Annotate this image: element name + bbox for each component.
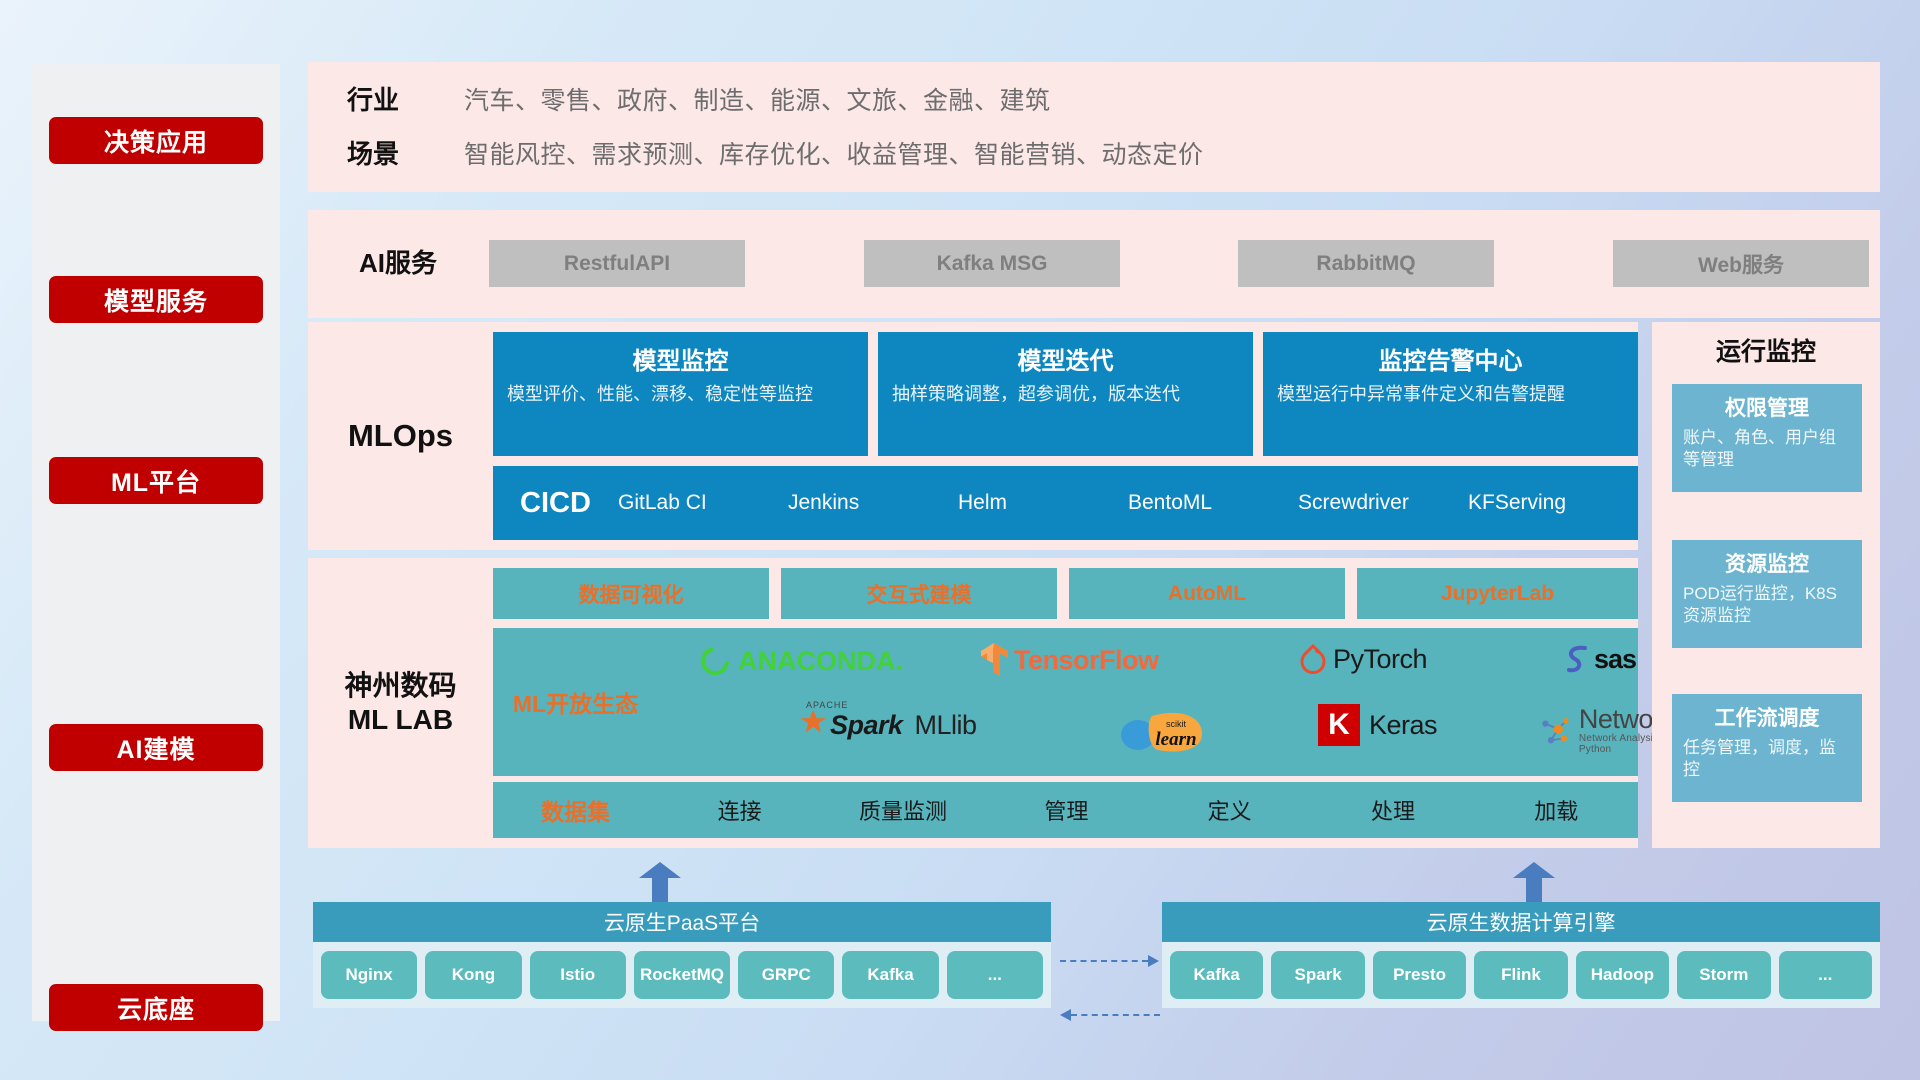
cicd-title: CICD	[493, 487, 618, 520]
compute-chip-spark[interactable]: Spark	[1271, 951, 1364, 999]
compute-chip-presto[interactable]: Presto	[1373, 951, 1466, 999]
paas-chip-istio[interactable]: Istio	[530, 951, 626, 999]
compute-chip-storm[interactable]: Storm	[1677, 951, 1770, 999]
stage-pill-decision[interactable]: 决策应用	[49, 117, 263, 164]
keras-wordmark: Keras	[1369, 710, 1437, 741]
card-desc: 抽样策略调整，超参调优，版本迭代	[892, 383, 1239, 407]
lab-tab-data-visualization[interactable]: 数据可视化	[493, 568, 769, 619]
compute-chip-kafka[interactable]: Kafka	[1170, 951, 1263, 999]
mlops-card-model-monitoring[interactable]: 模型监控 模型评价、性能、漂移、稳定性等监控	[493, 332, 868, 456]
anaconda-mark-icon	[698, 644, 732, 678]
scenario-label: 场景	[308, 134, 438, 171]
ml-ecosystem-title: ML开放生态	[493, 685, 658, 719]
scikit-tag-text: scikit	[1166, 719, 1186, 729]
ml-lab-label-line1: 神州数码	[344, 669, 456, 703]
cicd-item-jenkins[interactable]: Jenkins	[788, 491, 958, 515]
keras-mark-icon: K	[1318, 704, 1360, 746]
stage-pill-model-service[interactable]: 模型服务	[49, 276, 263, 323]
service-chip-web-service[interactable]: Web服务	[1613, 240, 1869, 287]
spark-apache-tag: APACHE	[806, 700, 848, 710]
paas-chip-grpc[interactable]: GRPC	[738, 951, 834, 999]
dataset-bar: 数据集 连接 质量监测 管理 定义 处理 加载	[493, 782, 1638, 838]
monitor-card-permission[interactable]: 权限管理 账户、角色、用户组等管理	[1672, 384, 1862, 492]
keras-logo: K Keras	[1318, 704, 1437, 746]
monitor-card-resource[interactable]: 资源监控 POD运行监控，K8S资源监控	[1672, 540, 1862, 648]
card-desc: POD运行监控，K8S资源监控	[1683, 583, 1851, 627]
compute-chip-hadoop[interactable]: Hadoop	[1576, 951, 1669, 999]
paas-to-compute-arrow-icon	[1060, 960, 1160, 962]
paas-chip-nginx[interactable]: Nginx	[321, 951, 417, 999]
cicd-item-helm[interactable]: Helm	[958, 491, 1128, 515]
lab-tab-automl[interactable]: AutoML	[1069, 568, 1345, 619]
mlops-card-model-iteration[interactable]: 模型迭代 抽样策略调整，超参调优，版本迭代	[878, 332, 1253, 456]
sas-wordmark: sas	[1594, 644, 1636, 675]
card-title: 权限管理	[1683, 392, 1851, 422]
stage-column: 决策应用 模型服务 ML平台 AI建模 云底座	[32, 64, 280, 1021]
mlops-panel: MLOps 模型监控 模型评价、性能、漂移、稳定性等监控 模型迭代 抽样策略调整…	[308, 322, 1638, 550]
cloud-paas-group: 云原生PaaS平台 Nginx Kong Istio RocketMQ GRPC…	[313, 902, 1051, 1008]
service-chip-kafka-msg[interactable]: Kafka MSG	[864, 240, 1120, 287]
dataset-item-process[interactable]: 处理	[1311, 794, 1474, 826]
pytorch-logo: PyTorch	[1298, 642, 1427, 676]
card-desc: 任务管理，调度，监控	[1683, 737, 1851, 781]
scikit-learn-logo: scikit learn	[1118, 708, 1214, 758]
cicd-item-screwdriver[interactable]: Screwdriver	[1298, 491, 1468, 515]
paas-chip-kong[interactable]: Kong	[425, 951, 521, 999]
lab-tab-jupyterlab[interactable]: JupyterLab	[1357, 568, 1638, 619]
scenario-row: 场景 智能风控、需求预测、库存优化、收益管理、智能营销、动态定价	[308, 134, 1204, 171]
card-title: 资源监控	[1683, 548, 1851, 578]
pytorch-mark-icon	[1298, 642, 1328, 676]
ml-lab-panel: 神州数码 ML LAB 数据可视化 交互式建模 AutoML JupyterLa…	[308, 558, 1638, 848]
card-title: 模型监控	[507, 341, 854, 376]
networkx-mark-icon	[1538, 711, 1575, 751]
compute-to-paas-arrow-icon	[1060, 1014, 1160, 1016]
mlops-label: MLOps	[308, 322, 493, 550]
spark-star-icon	[798, 708, 834, 742]
dataset-item-define[interactable]: 定义	[1148, 794, 1311, 826]
card-desc: 模型运行中异常事件定义和告警提醒	[1277, 383, 1624, 407]
sas-logo: sas	[1563, 643, 1636, 675]
tensorflow-logo: TensorFlow	[978, 642, 1159, 678]
dataset-title: 数据集	[493, 793, 658, 827]
card-title: 工作流调度	[1683, 702, 1851, 732]
ml-lab-label: 神州数码 ML LAB	[308, 558, 493, 848]
stage-pill-ml-platform[interactable]: ML平台	[49, 457, 263, 504]
paas-chip-kafka[interactable]: Kafka	[842, 951, 938, 999]
dataset-item-manage[interactable]: 管理	[985, 794, 1148, 826]
cicd-item-gitlab-ci[interactable]: GitLab CI	[618, 491, 788, 515]
stage-pill-cloud-base[interactable]: 云底座	[49, 984, 263, 1031]
anaconda-wordmark: ANACONDA.	[738, 646, 903, 677]
cloud-compute-chips: Kafka Spark Presto Flink Hadoop Storm ..…	[1162, 942, 1880, 1008]
card-desc: 账户、角色、用户组等管理	[1683, 427, 1851, 471]
compute-up-arrow-icon	[1513, 862, 1555, 902]
runtime-monitoring-panel: 运行监控 权限管理 账户、角色、用户组等管理 资源监控 POD运行监控，K8S资…	[1652, 322, 1880, 848]
paas-chip-more[interactable]: ...	[947, 951, 1043, 999]
service-chip-rabbitmq[interactable]: RabbitMQ	[1238, 240, 1494, 287]
card-desc: 模型评价、性能、漂移、稳定性等监控	[507, 383, 854, 407]
tensorflow-wordmark: TensorFlow	[1014, 645, 1159, 676]
industry-label: 行业	[308, 80, 438, 117]
dataset-item-connect[interactable]: 连接	[658, 794, 821, 826]
cicd-item-bentoml[interactable]: BentoML	[1128, 491, 1298, 515]
cicd-bar: CICD GitLab CI Jenkins Helm BentoML Scre…	[493, 466, 1638, 540]
dataset-item-quality[interactable]: 质量监测	[821, 794, 984, 826]
anaconda-logo: ANACONDA.	[698, 644, 903, 678]
monitor-card-workflow[interactable]: 工作流调度 任务管理，调度，监控	[1672, 694, 1862, 802]
mlops-card-alert-center[interactable]: 监控告警中心 模型运行中异常事件定义和告警提醒	[1263, 332, 1638, 456]
ecosystem-logo-grid: ANACONDA. TensorFlow PyTorch	[658, 628, 1638, 776]
industry-values: 汽车、零售、政府、制造、能源、文旅、金融、建筑	[464, 81, 1051, 117]
paas-up-arrow-icon	[639, 862, 681, 902]
cloud-paas-title: 云原生PaaS平台	[313, 902, 1051, 942]
card-title: 监控告警中心	[1277, 341, 1624, 376]
cicd-item-kfserving[interactable]: KFServing	[1468, 491, 1638, 515]
industry-row: 行业 汽车、零售、政府、制造、能源、文旅、金融、建筑	[308, 80, 1051, 117]
ml-ecosystem-box: ML开放生态 ANACONDA. TensorFlow	[493, 628, 1638, 776]
cloud-compute-title: 云原生数据计算引擎	[1162, 902, 1880, 942]
learn-wordmark-text: learn	[1155, 729, 1196, 750]
cloud-compute-group: 云原生数据计算引擎 Kafka Spark Presto Flink Hadoo…	[1162, 902, 1880, 1008]
sas-mark-icon	[1563, 643, 1593, 675]
ml-lab-label-line2: ML LAB	[344, 703, 456, 737]
stage-pill-ai-modeling[interactable]: AI建模	[49, 724, 263, 771]
applications-panel: 行业 汽车、零售、政府、制造、能源、文旅、金融、建筑 场景 智能风控、需求预测、…	[308, 62, 1880, 192]
ai-service-panel: AI服务 RestfulAPI Kafka MSG RabbitMQ Web服务	[308, 210, 1880, 318]
compute-chip-flink[interactable]: Flink	[1474, 951, 1567, 999]
ai-service-label: AI服务	[308, 210, 488, 318]
pytorch-wordmark: PyTorch	[1333, 644, 1427, 675]
spark-mllib-logo: APACHE Spark MLlib	[798, 708, 977, 742]
card-title: 模型迭代	[892, 341, 1239, 376]
scenario-values: 智能风控、需求预测、库存优化、收益管理、智能营销、动态定价	[464, 135, 1204, 171]
service-chip-restfulapi[interactable]: RestfulAPI	[489, 240, 745, 287]
tensorflow-mark-icon	[978, 642, 1010, 678]
mllib-wordmark: MLlib	[915, 710, 977, 741]
scikit-learn-mark-icon: scikit learn	[1118, 708, 1214, 758]
lab-tab-interactive-modeling[interactable]: 交互式建模	[781, 568, 1057, 619]
dataset-item-load[interactable]: 加载	[1475, 794, 1638, 826]
runtime-monitoring-title: 运行监控	[1652, 332, 1880, 368]
paas-chip-rocketmq[interactable]: RocketMQ	[634, 951, 730, 999]
compute-chip-more[interactable]: ...	[1779, 951, 1872, 999]
cloud-paas-chips: Nginx Kong Istio RocketMQ GRPC Kafka ...	[313, 942, 1051, 1008]
spark-wordmark: Spark	[830, 710, 903, 741]
